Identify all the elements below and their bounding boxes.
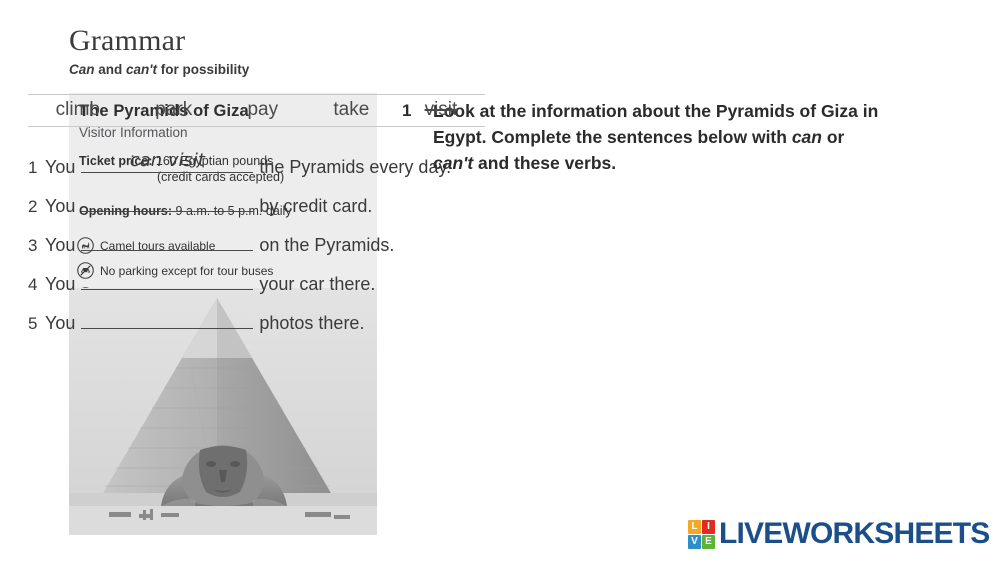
sentence-row: 2 You by credit card. bbox=[28, 189, 498, 228]
subtitle-rest: for possibility bbox=[157, 62, 249, 77]
word-bank-item-pay[interactable]: pay bbox=[247, 99, 278, 121]
logo-tile-v: V bbox=[688, 535, 701, 549]
liveworksheets-logo[interactable]: L I V E LIVEWORKSHEETS bbox=[688, 519, 990, 549]
sentence-tail: on the Pyramids. bbox=[259, 235, 394, 256]
subtitle-can: Can bbox=[69, 62, 95, 77]
prompt-can: can bbox=[792, 127, 822, 147]
sentence-row: 5 You photos there. bbox=[28, 306, 498, 345]
subtitle-cant: can't bbox=[126, 62, 157, 77]
answer-blank-1[interactable]: can visit bbox=[81, 150, 253, 173]
logo-wordmark: LIVEWORKSHEETS bbox=[719, 519, 990, 549]
answer-blank-4[interactable] bbox=[81, 267, 253, 290]
answer-blank-5[interactable] bbox=[81, 306, 253, 329]
logo-tile-e: E bbox=[702, 535, 715, 549]
sentence-tail: by credit card. bbox=[259, 196, 372, 217]
prompt-part-2: or bbox=[822, 127, 844, 147]
answer-text: can visit bbox=[81, 150, 253, 171]
exercise-prompt: Look at the information about the Pyrami… bbox=[433, 98, 888, 176]
logo-tile-grid: L I V E bbox=[688, 520, 715, 549]
word-bank-item-park[interactable]: park bbox=[155, 99, 192, 121]
sentence-number: 3 bbox=[28, 236, 45, 256]
sentence-row: 4 You your car there. bbox=[28, 267, 498, 306]
sentence-row: 1 You can visit the Pyramids every day. bbox=[28, 150, 498, 189]
subtitle-and: and bbox=[95, 62, 127, 77]
logo-tile-l: L bbox=[688, 520, 701, 534]
page-title: Grammar bbox=[69, 24, 489, 58]
sentence-tail: the Pyramids every day. bbox=[259, 157, 451, 178]
logo-tile-i: I bbox=[702, 520, 715, 534]
word-bank-item-take[interactable]: take bbox=[333, 99, 369, 121]
sentence-lead: You bbox=[45, 235, 75, 256]
word-bank: climb park pay take visit bbox=[28, 94, 485, 127]
sentence-lead: You bbox=[45, 196, 75, 217]
sentence-lead: You bbox=[45, 274, 75, 295]
answer-blank-2[interactable] bbox=[81, 189, 253, 212]
sentence-tail: photos there. bbox=[259, 313, 364, 334]
sentence-number: 1 bbox=[28, 158, 45, 178]
answer-blank-3[interactable] bbox=[81, 228, 253, 251]
sentence-tail: your car there. bbox=[259, 274, 375, 295]
sentence-number: 2 bbox=[28, 197, 45, 217]
card-subtitle: Visitor Information bbox=[79, 125, 188, 140]
page-header: Grammar Can and can't for possibility bbox=[69, 24, 489, 78]
word-bank-item-visit[interactable]: visit bbox=[425, 99, 458, 121]
sentence-number: 5 bbox=[28, 314, 45, 334]
sentence-row: 3 You on the Pyramids. bbox=[28, 228, 498, 267]
sentence-list: 1 You can visit the Pyramids every day. … bbox=[28, 150, 498, 345]
sentence-lead: You bbox=[45, 157, 75, 178]
page-subtitle: Can and can't for possibility bbox=[69, 61, 489, 78]
sentence-lead: You bbox=[45, 313, 75, 334]
sentence-number: 4 bbox=[28, 275, 45, 295]
word-bank-item-climb[interactable]: climb bbox=[56, 99, 100, 121]
